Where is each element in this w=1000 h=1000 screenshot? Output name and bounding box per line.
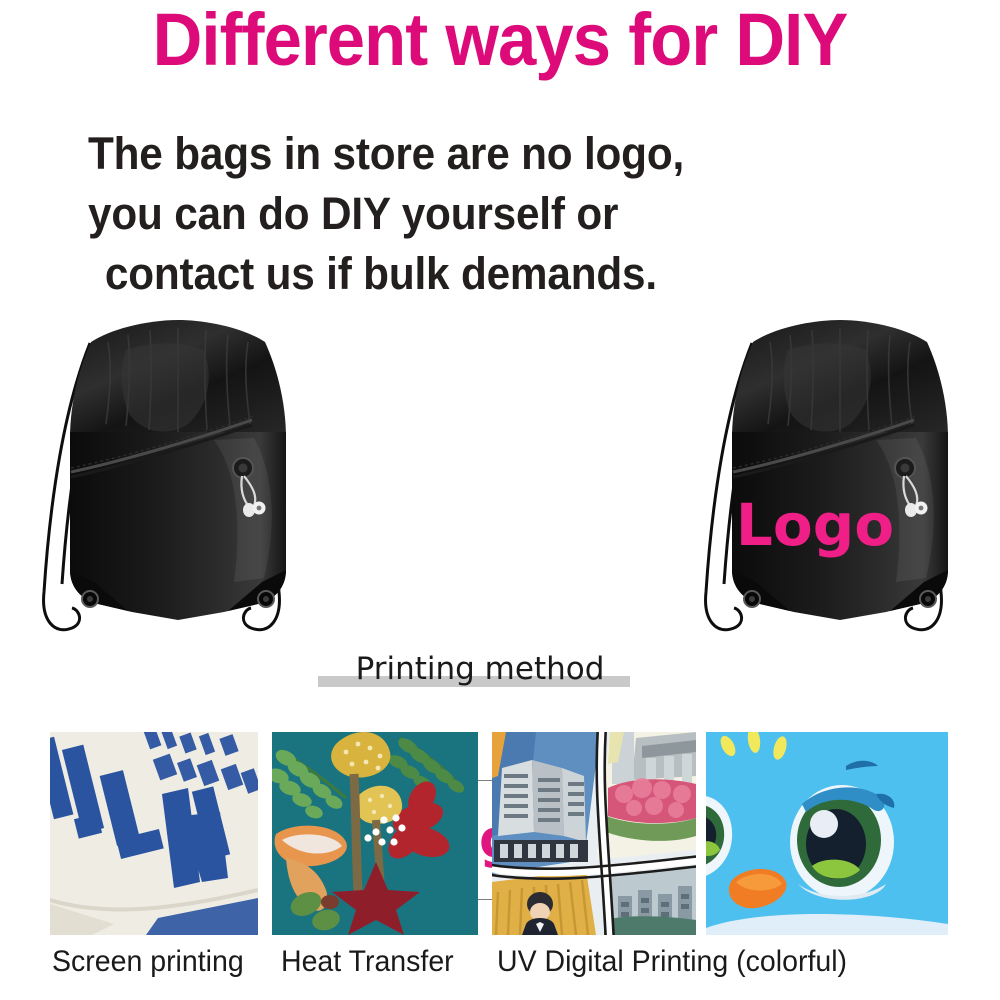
- subtitle-block: The bags in store are no logo, you can d…: [88, 124, 868, 304]
- thumbnail-cartoon-bird[interactable]: [706, 732, 948, 935]
- printing-method-thumbnails: [0, 732, 1000, 935]
- thumbnail-captions: Screen printing Heat Transfer UV Digital…: [0, 944, 1000, 990]
- bag-printed-logo: Logo: [736, 491, 894, 559]
- page-title: Different ways for DIY: [35, 0, 965, 82]
- subtitle-line-1: The bags in store are no logo,: [88, 124, 868, 184]
- caption-uv-digital-printing: UV Digital Printing (colorful): [497, 944, 847, 980]
- subtitle-line-2: you can do DIY yourself or: [88, 184, 868, 244]
- logo-bag-image: Logo: [690, 320, 990, 645]
- subtitle-line-3: contact us if bulk demands.: [88, 244, 868, 304]
- printing-method-label: Printing method: [280, 652, 680, 686]
- caption-heat-transfer: Heat Transfer: [281, 944, 454, 980]
- thumbnail-screen-printing[interactable]: [50, 732, 258, 935]
- thumbnail-uv-digital-printing[interactable]: [492, 732, 696, 935]
- diy-promo-image: Different ways for DIY The bags in store…: [0, 0, 1000, 1000]
- caption-screen-printing: Screen printing: [52, 944, 244, 980]
- thumbnail-heat-transfer[interactable]: [272, 732, 478, 935]
- blank-bag-image: [28, 320, 328, 645]
- diy-equation-row: + Logo =: [0, 320, 1000, 650]
